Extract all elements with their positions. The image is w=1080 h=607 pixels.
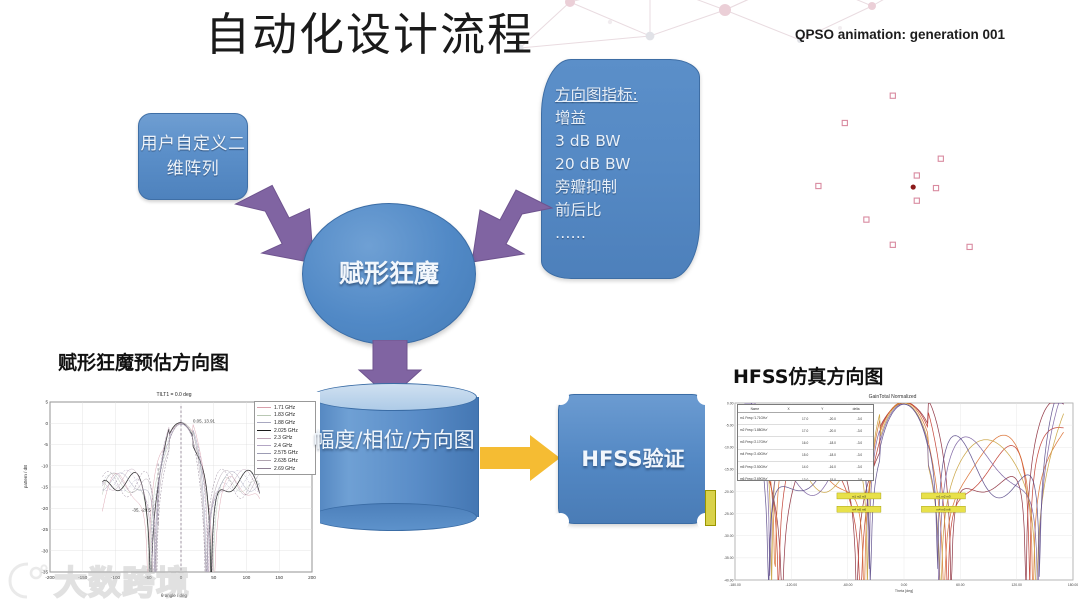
table-row: m2 Freq='1.88GHz'17.0-20.0-3.0	[738, 425, 873, 437]
cylinder-body	[311, 397, 479, 517]
slide-title: 自动化设计流程	[205, 4, 534, 66]
svg-text:50: 50	[211, 575, 217, 580]
chart-right-legend: Name X Y delta m1 Freq='1.71GHz'17.0-20.…	[737, 404, 874, 481]
svg-text:-5.00: -5.00	[726, 423, 734, 427]
cylinder-bottom	[311, 503, 477, 531]
legend-item: 2.69 GHz	[257, 465, 313, 473]
svg-text:0.05, 13.91: 0.05, 13.91	[193, 418, 216, 423]
legend-delta-value: -3.0	[846, 453, 873, 457]
node-user-array-label: 用户自定义二维阵列	[139, 132, 247, 182]
chart-right-side-tag	[705, 490, 716, 526]
legend-delta-value: -3.0	[846, 478, 873, 481]
legend-swatch	[257, 460, 271, 461]
legend-x-value: 15.0	[792, 453, 819, 457]
svg-text:-5: -5	[44, 442, 49, 447]
svg-text:m4 m5 m6: m4 m5 m6	[936, 508, 951, 512]
svg-text:-60.00: -60.00	[843, 583, 853, 587]
node-hfss-validation-label: HFSS验证	[578, 444, 688, 475]
watermark: 大数跨境	[6, 556, 190, 604]
svg-text:0.00: 0.00	[727, 401, 734, 405]
svg-text:-180.00: -180.00	[729, 583, 741, 587]
spec-item-gain: 增益	[555, 107, 699, 130]
table-row: m5 Freq='2.50GHz'14.0-16.0-3.0	[738, 462, 873, 474]
spec-header: 方向图指标:	[555, 84, 699, 107]
legend-y-value: -20.0	[819, 417, 846, 421]
chart-right-title: GainTotal Normalized	[705, 394, 1080, 400]
legend-x-value: 16.0	[792, 441, 819, 445]
svg-text:5: 5	[45, 400, 48, 405]
legend-series-name: m1 Freq='1.71GHz'	[738, 417, 792, 421]
spec-item-sidelobe: 旁瓣抑制	[555, 176, 699, 199]
legend-series-name: m5 Freq='2.50GHz'	[738, 466, 792, 470]
spec-item-front-back: 前后比	[555, 199, 699, 222]
chart-hfss-pattern: -180.00-120.00-60.000.0060.00120.00180.0…	[705, 392, 1080, 597]
legend-delta-value: -3.0	[846, 465, 873, 469]
qpso-scatter-plot	[780, 60, 1020, 270]
legend-x-value: 14.0	[792, 465, 819, 469]
legend-series-name: m6 Freq='2.69GHz'	[738, 478, 792, 481]
table-row: m4 Freq='2.40GHz'15.0-18.0-3.0	[738, 450, 873, 462]
legend-label: 2.3 GHz	[274, 435, 292, 441]
svg-text:-30: -30	[41, 548, 48, 553]
legend-label: 2.575 GHz	[274, 450, 298, 456]
legend-item: 1.83 GHz	[257, 412, 313, 420]
svg-text:200: 200	[308, 575, 316, 580]
chart-left-legend: 1.71 GHz1.83 GHz1.88 GHz2.025 GHz2.3 GHz…	[254, 401, 316, 475]
legend-label: 1.71 GHz	[274, 405, 295, 411]
svg-text:-20: -20	[41, 506, 48, 511]
legend-swatch	[257, 445, 271, 446]
svg-text:-35.00: -35.00	[724, 556, 734, 560]
svg-text:150: 150	[275, 575, 283, 580]
legend-y-value: -18.0	[819, 453, 846, 457]
svg-text:-25.00: -25.00	[724, 512, 734, 516]
node-shaping-engine[interactable]: 赋形狂魔	[302, 203, 476, 345]
legend-swatch	[257, 430, 271, 431]
legend-item: 2.635 GHz	[257, 457, 313, 465]
legend-label: 2.4 GHz	[274, 443, 292, 449]
caption-predicted-pattern: 赋形狂魔预估方向图	[58, 348, 229, 375]
svg-text:0: 0	[45, 421, 48, 426]
legend-series-name: m3 Freq='2.17GHz'	[738, 441, 792, 445]
legend-col-y: Y	[806, 407, 840, 411]
svg-text:-120.00: -120.00	[786, 583, 798, 587]
svg-text:Theta [deg]: Theta [deg]	[895, 589, 913, 593]
legend-y-value: -20.0	[819, 429, 846, 433]
legend-col-x: X	[772, 407, 806, 411]
node-datastore[interactable]: 幅度/相位/方向图	[311, 383, 477, 531]
cylinder-top	[311, 383, 477, 411]
svg-text:60.00: 60.00	[956, 583, 965, 587]
legend-item: 1.88 GHz	[257, 419, 313, 427]
svg-text:-25: -25	[41, 527, 48, 532]
svg-text:m1 m2 m3: m1 m2 m3	[936, 494, 951, 498]
legend-item: 2.4 GHz	[257, 442, 313, 450]
table-row: m3 Freq='2.17GHz'16.0-18.0-3.0	[738, 437, 873, 449]
spec-item-3db-bw: 3 dB BW	[555, 130, 699, 153]
legend-label: 1.83 GHz	[274, 412, 295, 418]
svg-text:-15.00: -15.00	[724, 468, 734, 472]
legend-swatch	[257, 438, 271, 439]
legend-x-value: 17.0	[792, 429, 819, 433]
svg-text:-10: -10	[41, 463, 48, 468]
svg-text:100: 100	[243, 575, 251, 580]
legend-header-row: Name X Y delta	[738, 405, 873, 413]
legend-delta-value: -3.0	[846, 417, 873, 421]
watermark-logo-icon	[6, 560, 50, 600]
svg-text:m1 m2 m3: m1 m2 m3	[852, 494, 867, 498]
legend-y-value: -16.0	[819, 465, 846, 469]
legend-delta-value: -3.0	[846, 429, 873, 433]
svg-text:180.00: 180.00	[1068, 583, 1078, 587]
qpso-animation-label: QPSO animation: generation 001	[795, 27, 1005, 42]
legend-item: 2.575 GHz	[257, 450, 313, 458]
node-hfss-validation[interactable]: HFSS验证	[558, 394, 708, 524]
caption-hfss-pattern: HFSS仿真方向图	[733, 362, 883, 389]
table-row: m1 Freq='1.71GHz'17.0-20.0-3.0	[738, 413, 873, 425]
svg-text:-20.00: -20.00	[724, 490, 734, 494]
arrow-datastore-to-hfss	[480, 432, 562, 484]
spec-item-20db-bw: 20 dB BW	[555, 153, 699, 176]
svg-text:-15: -15	[41, 485, 48, 490]
legend-y-value: -15.0	[819, 478, 846, 481]
legend-swatch	[257, 407, 271, 408]
node-datastore-label: 幅度/相位/方向图	[311, 425, 477, 455]
legend-x-value: 17.0	[792, 417, 819, 421]
legend-label: 2.635 GHz	[274, 458, 298, 464]
legend-swatch	[257, 468, 271, 469]
legend-label: 2.69 GHz	[274, 466, 295, 472]
legend-item: 2.025 GHz	[257, 427, 313, 435]
legend-label: 1.88 GHz	[274, 420, 295, 426]
legend-x-value: 13.0	[792, 478, 819, 481]
legend-series-name: m2 Freq='1.88GHz'	[738, 429, 792, 433]
spec-item-ellipsis: ……	[555, 222, 699, 245]
legend-series-name: m4 Freq='2.40GHz'	[738, 453, 792, 457]
arrow-spec-to-engine	[462, 188, 558, 272]
legend-swatch	[257, 415, 271, 416]
legend-swatch	[257, 453, 271, 454]
legend-item: 1.71 GHz	[257, 404, 313, 412]
legend-y-value: -18.0	[819, 441, 846, 445]
node-shaping-engine-label: 赋形狂魔	[329, 257, 449, 291]
legend-swatch	[257, 422, 271, 423]
svg-text:0.00: 0.00	[901, 583, 908, 587]
svg-text:-30.00: -30.00	[724, 534, 734, 538]
legend-item: 2.3 GHz	[257, 434, 313, 442]
table-row: m6 Freq='2.69GHz'13.0-15.0-3.0	[738, 474, 873, 481]
svg-text:m4 m5 m6: m4 m5 m6	[852, 508, 867, 512]
svg-text:-40.00: -40.00	[724, 578, 734, 582]
slide-canvas: 自动化设计流程 QPSO animation: generation 001 用…	[0, 0, 1080, 607]
legend-col-delta: delta	[839, 407, 873, 411]
svg-text:120.00: 120.00	[1011, 583, 1021, 587]
legend-delta-value: -3.0	[846, 441, 873, 445]
svg-text:-10.00: -10.00	[724, 446, 734, 450]
watermark-text: 大数跨境	[54, 556, 190, 604]
svg-text:-35, -20.5: -35, -20.5	[132, 507, 151, 512]
node-pattern-spec[interactable]: 方向图指标: 增益 3 dB BW 20 dB BW 旁瓣抑制 前后比 ……	[541, 59, 700, 279]
legend-col-name: Name	[738, 407, 772, 411]
legend-label: 2.025 GHz	[274, 428, 298, 434]
